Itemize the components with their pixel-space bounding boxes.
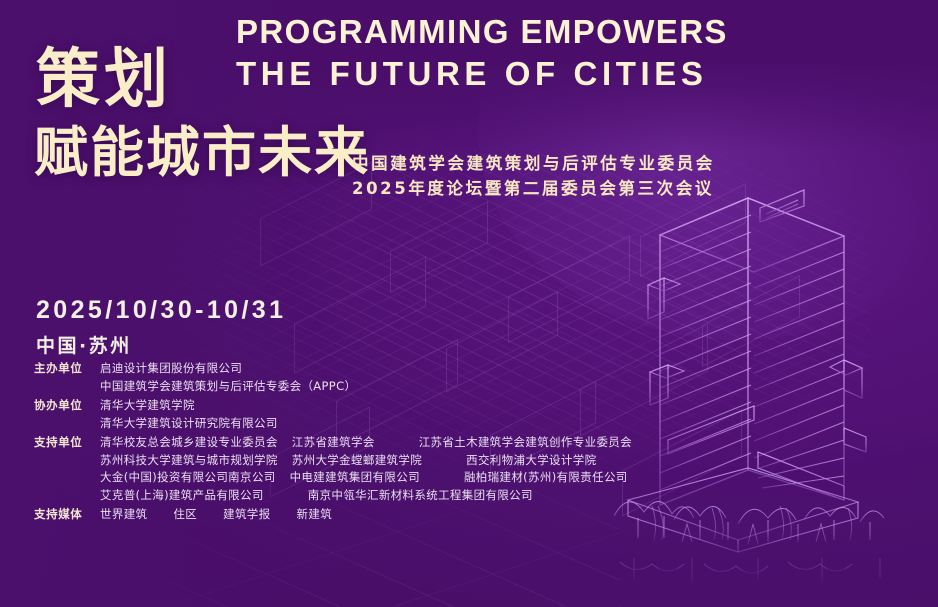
credits-entry: 启迪设计集团股份有限公司: [100, 360, 242, 378]
credits-entry: 艾克普(上海)建筑产品有限公司: [100, 487, 264, 505]
credits-entry: 清华校友总会城乡建设专业委员会: [100, 434, 278, 452]
credits-entry: 江苏省土木建筑学会建筑创作专业委员会: [419, 434, 632, 452]
credits-row: 主办单位启迪设计集团股份有限公司中国建筑学会建筑策划与后评估专委会（APPC）: [34, 360, 724, 395]
event-location: 中国·苏州: [36, 331, 286, 358]
credits-row-label: 支持单位: [34, 434, 100, 452]
credits-entry: 江苏省建筑学会: [292, 434, 375, 452]
credits-line: 苏州科技大学建筑与城市规划学院苏州大学金螳螂建筑学院西交利物浦大学设计学院: [100, 452, 724, 470]
credits-row-label: 主办单位: [34, 360, 100, 378]
credits-entry: 住区: [173, 506, 197, 524]
credits-line: 世界建筑住区建筑学报新建筑: [100, 506, 724, 524]
credits-entry: 新建筑: [297, 506, 333, 524]
credits-line: 清华大学建筑设计研究院有限公司: [100, 415, 724, 433]
headline-en-block: PROGRAMMING EMPOWERS THE FUTURE OF CITIE…: [236, 14, 728, 93]
credits-row: 支持单位清华校友总会城乡建设专业委员会江苏省建筑学会江苏省土木建筑学会建筑创作专…: [34, 434, 724, 504]
credits-line: 中国建筑学会建筑策划与后评估专委会（APPC）: [100, 378, 724, 396]
credits-entry: 大金(中国)投资有限公司南京公司: [100, 469, 276, 487]
conference-poster: 策划 赋能城市未来 PROGRAMMING EMPOWERS THE FUTUR…: [0, 0, 938, 607]
credits-entry: 建筑学报: [223, 506, 270, 524]
credits-entry: 苏州科技大学建筑与城市规划学院: [100, 452, 278, 470]
subtitle-line2: 2025年度论坛暨第二届委员会第三次会议: [352, 177, 715, 202]
credits-row-values: 清华校友总会城乡建设专业委员会江苏省建筑学会江苏省土木建筑学会建筑创作专业委员会…: [100, 434, 724, 504]
credits-block: 主办单位启迪设计集团股份有限公司中国建筑学会建筑策划与后评估专委会（APPC）协…: [34, 360, 724, 526]
credits-entry: 清华大学建筑设计研究院有限公司: [100, 415, 278, 433]
credits-entry: 中国建筑学会建筑策划与后评估专委会（APPC）: [100, 378, 356, 396]
subtitle-line1: 中国建筑学会建筑策划与后评估专业委员会: [352, 152, 715, 177]
credits-entry: 世界建筑: [100, 506, 147, 524]
credits-entry: 中电建建筑集团有限公司: [290, 469, 420, 487]
credits-row-values: 清华大学建筑学院清华大学建筑设计研究院有限公司: [100, 397, 724, 432]
credits-line: 启迪设计集团股份有限公司: [100, 360, 724, 378]
event-date: 2025/10/30-10/31: [36, 296, 286, 325]
headline-en-line2: THE FUTURE OF CITIES: [236, 55, 728, 93]
credits-entry: 苏州大学金螳螂建筑学院: [292, 452, 422, 470]
credits-line: 清华大学建筑学院: [100, 397, 724, 415]
credits-row-values: 世界建筑住区建筑学报新建筑: [100, 506, 724, 524]
credits-row-label: 协办单位: [34, 397, 100, 415]
headline-en-line1: PROGRAMMING EMPOWERS: [236, 14, 728, 50]
credits-entry: 清华大学建筑学院: [100, 397, 195, 415]
credits-line: 大金(中国)投资有限公司南京公司中电建建筑集团有限公司融柏瑞建材(苏州)有限责任…: [100, 469, 724, 487]
subtitle-block: 中国建筑学会建筑策划与后评估专业委员会 2025年度论坛暨第二届委员会第三次会议: [352, 152, 715, 202]
credits-row: 支持媒体世界建筑住区建筑学报新建筑: [34, 506, 724, 524]
credits-entry: 西交利物浦大学设计学院: [466, 452, 596, 470]
credits-row-values: 启迪设计集团股份有限公司中国建筑学会建筑策划与后评估专委会（APPC）: [100, 360, 724, 395]
credits-line: 艾克普(上海)建筑产品有限公司南京中瓴华汇新材料系统工程集团有限公司: [100, 487, 724, 505]
credits-row: 协办单位清华大学建筑学院清华大学建筑设计研究院有限公司: [34, 397, 724, 432]
credits-entry: 融柏瑞建材(苏州)有限责任公司: [464, 469, 628, 487]
credits-entry: 南京中瓴华汇新材料系统工程集团有限公司: [308, 487, 533, 505]
credits-line: 清华校友总会城乡建设专业委员会江苏省建筑学会江苏省土木建筑学会建筑创作专业委员会: [100, 434, 724, 452]
event-date-block: 2025/10/30-10/31 中国·苏州: [36, 296, 286, 358]
credits-row-label: 支持媒体: [34, 506, 100, 524]
